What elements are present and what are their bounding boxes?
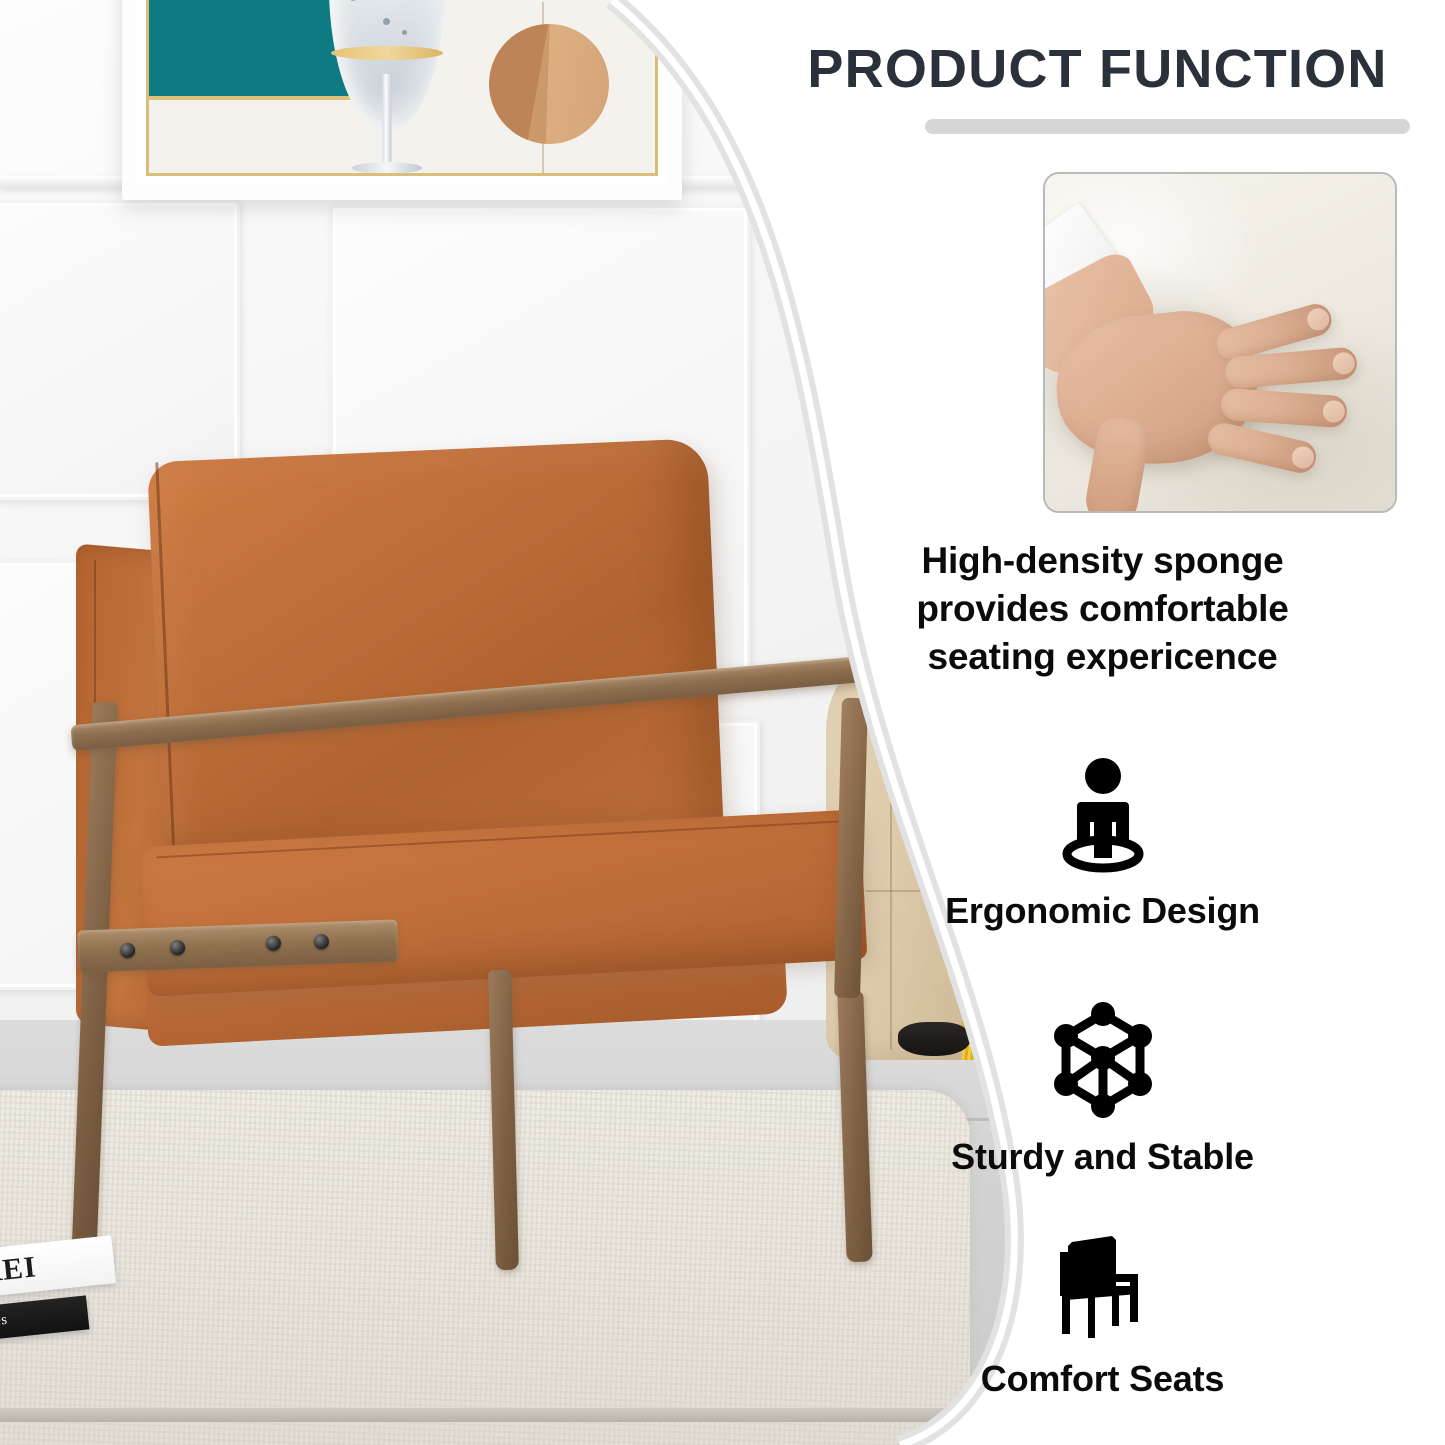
little-finger — [1205, 420, 1319, 476]
armchair-icon — [1042, 1230, 1164, 1342]
sponge-caption-line-3: seating expericence — [800, 633, 1405, 681]
sponge-caption: High-density sponge provides comfortable… — [760, 537, 1445, 681]
feature-label: Comfort Seats — [760, 1358, 1445, 1400]
fingernail — [1332, 351, 1356, 375]
feature-ergonomic-design: Ergonomic Design — [760, 756, 1445, 932]
feature-label: Sturdy and Stable — [760, 1136, 1445, 1178]
framed-wall-art — [122, 0, 682, 200]
wireframe-cube-icon — [1048, 1002, 1158, 1120]
person-in-circle-icon — [1051, 756, 1155, 874]
sponge-demo-photo — [1043, 172, 1397, 513]
book-black-title: Unles — [0, 1312, 8, 1333]
fingernail — [1290, 444, 1316, 470]
fingernail — [1322, 400, 1345, 423]
sponge-caption-line-1: High-density sponge — [800, 537, 1405, 585]
art-gold-mat — [146, 0, 658, 176]
title-divider-rule — [925, 119, 1410, 134]
sponge-caption-line-2: provides comfortable — [800, 585, 1405, 633]
champagne-flute-base — [352, 162, 422, 174]
page-title: PRODUCT FUNCTION — [760, 38, 1445, 100]
feature-panel: PRODUCT FUNCTION — [760, 0, 1445, 1445]
pressing-hand — [1043, 228, 1359, 498]
art-gold-line — [149, 96, 382, 100]
feature-label: Ergonomic Design — [760, 890, 1445, 932]
book-white-title: REI — [0, 1250, 38, 1290]
feature-sturdy-stable: Sturdy and Stable — [760, 1002, 1445, 1178]
champagne-flute-stem — [382, 74, 391, 176]
fingernail — [1305, 306, 1332, 333]
chair-back-pillow — [147, 438, 725, 882]
champagne-flute-rim — [331, 46, 443, 60]
product-function-infographic: REI Unles PRODUCT FUNCTION — [0, 0, 1445, 1445]
feature-comfort-seats: Comfort Seats — [760, 1230, 1445, 1400]
art-circle-highlight — [489, 24, 609, 144]
